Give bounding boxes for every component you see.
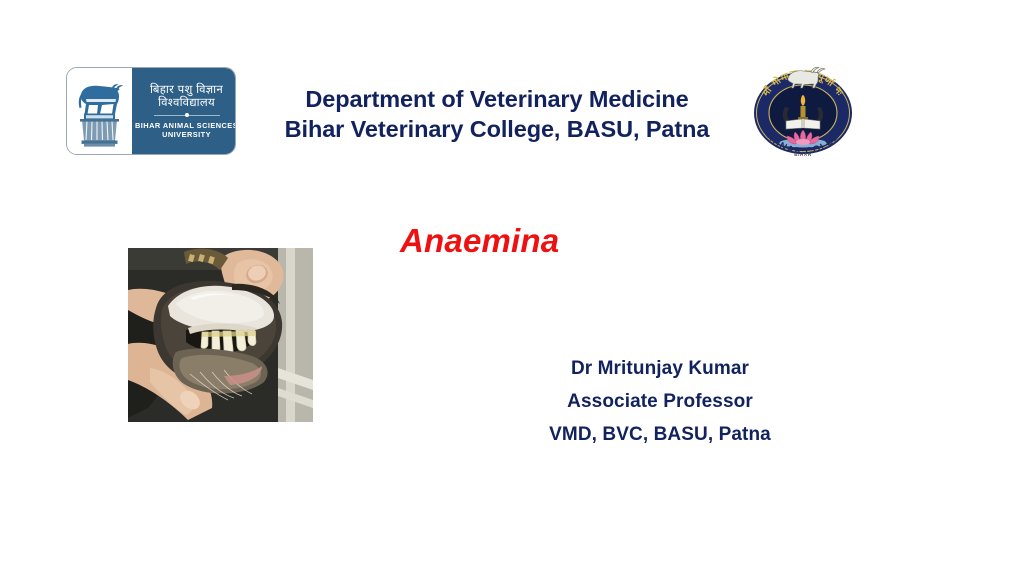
author-block: Dr Mritunjay Kumar Associate Professor V…	[500, 352, 820, 451]
basu-english-line-2: UNIVERSITY	[162, 130, 211, 139]
basu-hindi-line-2: विश्वविद्यालय	[158, 97, 215, 110]
basu-hindi-line-1: बिहार पशु विज्ञान	[150, 84, 223, 97]
college-seal-icon: माँ गोमाता अन्नपूर्णा नः	[744, 57, 862, 162]
svg-text:BIHAR: BIHAR	[794, 152, 812, 157]
bihar-veterinary-college-seal: माँ गोमाता अन्नपूर्णा नः	[744, 57, 862, 162]
header-title-line-1: Department of Veterinary Medicine	[305, 86, 688, 112]
slide-header-title: Department of Veterinary Medicine Bihar …	[252, 84, 742, 144]
author-affiliation: VMD, BVC, BASU, Patna	[500, 418, 820, 451]
author-designation: Associate Professor	[500, 385, 820, 418]
basu-english-line-1: BIHAR ANIMAL SCIENCES	[135, 121, 236, 130]
clinical-photo-pale-gums	[128, 248, 313, 422]
basu-logo-text-panel: बिहार पशु विज्ञान विश्वविद्यालय BIHAR AN…	[132, 68, 236, 154]
header-title-line-2: Bihar Veterinary College, BASU, Patna	[252, 114, 742, 144]
cow-pillar-emblem-icon	[71, 74, 128, 150]
logo-divider	[154, 113, 220, 118]
presentation-slide: बिहार पशु विज्ञान विश्वविद्यालय BIHAR AN…	[0, 0, 1024, 576]
basu-university-logo: बिहार पशु विज्ञान विश्वविद्यालय BIHAR AN…	[66, 67, 236, 155]
pale-gum-examination-image	[128, 248, 313, 422]
basu-emblem-cell	[67, 68, 132, 154]
topic-title: Anaemina	[400, 222, 559, 260]
author-name: Dr Mritunjay Kumar	[500, 352, 820, 385]
